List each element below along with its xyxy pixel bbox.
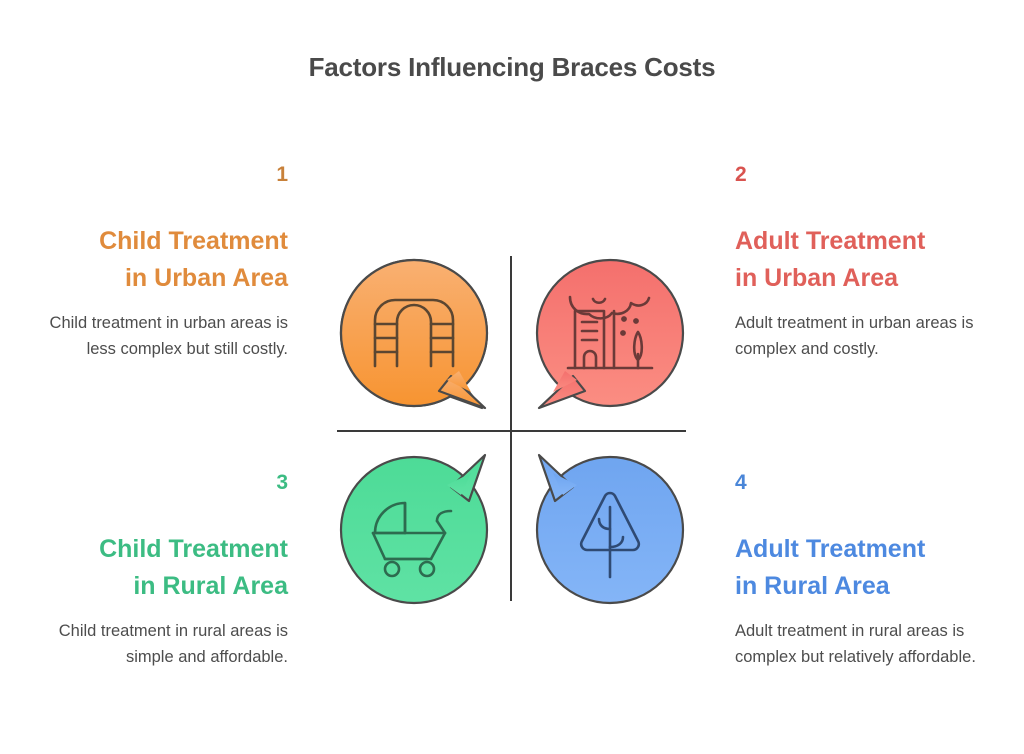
speech-bubble-1[interactable] (339, 258, 489, 408)
quadrant-block-1: 1 Child Treatment in Urban Area Child tr… (40, 164, 288, 362)
quadrant-number-1: 1 (40, 164, 288, 185)
quadrant-body-4: Adult treatment in rural areas is comple… (735, 618, 983, 670)
speech-bubble-3[interactable] (339, 455, 489, 605)
quadrant-body-3: Child treatment in rural areas is simple… (40, 618, 288, 670)
speech-bubble-4[interactable] (535, 455, 685, 605)
page-title: Factors Influencing Braces Costs (0, 52, 1024, 83)
quadrant-heading-3-line2: in Rural Area (40, 568, 288, 605)
quadrant-heading-4: Adult Treatment in Rural Area (735, 531, 983, 604)
quadrant-number-3: 3 (40, 472, 288, 493)
quadrant-number-2: 2 (735, 164, 983, 185)
quadrant-heading-1: Child Treatment in Urban Area (40, 223, 288, 296)
quadrant-heading-2-line1: Adult Treatment (735, 223, 983, 260)
quadrant-heading-2: Adult Treatment in Urban Area (735, 223, 983, 296)
quadrant-heading-4-line2: in Rural Area (735, 568, 983, 605)
quadrant-body-1: Child treatment in urban areas is less c… (40, 310, 288, 362)
quadrant-heading-4-line1: Adult Treatment (735, 531, 983, 568)
quadrant-block-2: 2 Adult Treatment in Urban Area Adult tr… (735, 164, 983, 362)
quadrant-body-2: Adult treatment in urban areas is comple… (735, 310, 983, 362)
quadrant-block-3: 3 Child Treatment in Rural Area Child tr… (40, 472, 288, 670)
quadrant-axis-vertical (510, 256, 512, 601)
speech-bubble-2[interactable] (535, 258, 685, 408)
quadrant-heading-3-line1: Child Treatment (40, 531, 288, 568)
quadrant-block-4: 4 Adult Treatment in Rural Area Adult tr… (735, 472, 983, 670)
quadrant-heading-3: Child Treatment in Rural Area (40, 531, 288, 604)
quadrant-heading-2-line2: in Urban Area (735, 260, 983, 297)
quadrant-heading-1-line1: Child Treatment (40, 223, 288, 260)
quadrant-number-4: 4 (735, 472, 983, 493)
quadrant-heading-1-line2: in Urban Area (40, 260, 288, 297)
